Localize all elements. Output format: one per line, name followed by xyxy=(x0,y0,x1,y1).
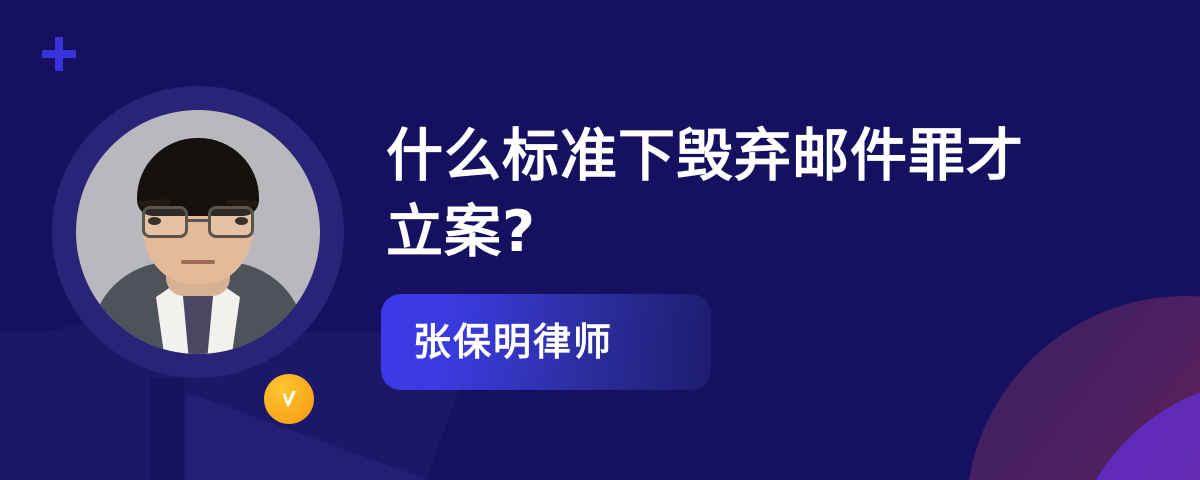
glasses-bridge xyxy=(188,219,208,222)
decor-polygon-triangle xyxy=(186,392,626,480)
decor-circle-purple xyxy=(1066,378,1200,480)
decor-polygon-bar xyxy=(150,378,184,480)
avatar-photo xyxy=(76,110,320,354)
plus-icon xyxy=(42,37,76,71)
lawyer-question-banner: 什么标准下毁弃邮件罪才 立案? 张保明律师 xyxy=(0,0,1200,480)
glasses-lens-left xyxy=(142,206,188,238)
headline-block: 什么标准下毁弃邮件罪才 立案? xyxy=(386,118,1066,270)
lawyer-name-label: 张保明律师 xyxy=(413,323,613,361)
glasses-lens-right xyxy=(208,206,254,238)
glasses-icon xyxy=(142,206,254,238)
lawyer-name-button[interactable]: 张保明律师 xyxy=(381,294,711,390)
plus-icon-bar-vertical xyxy=(55,37,63,71)
decor-circle-maroon xyxy=(966,296,1200,480)
page-title: 什么标准下毁弃邮件罪才 立案? xyxy=(386,118,1066,270)
avatar[interactable] xyxy=(52,86,344,378)
verified-badge-icon[interactable] xyxy=(264,374,314,424)
portrait-mouth xyxy=(181,260,215,264)
